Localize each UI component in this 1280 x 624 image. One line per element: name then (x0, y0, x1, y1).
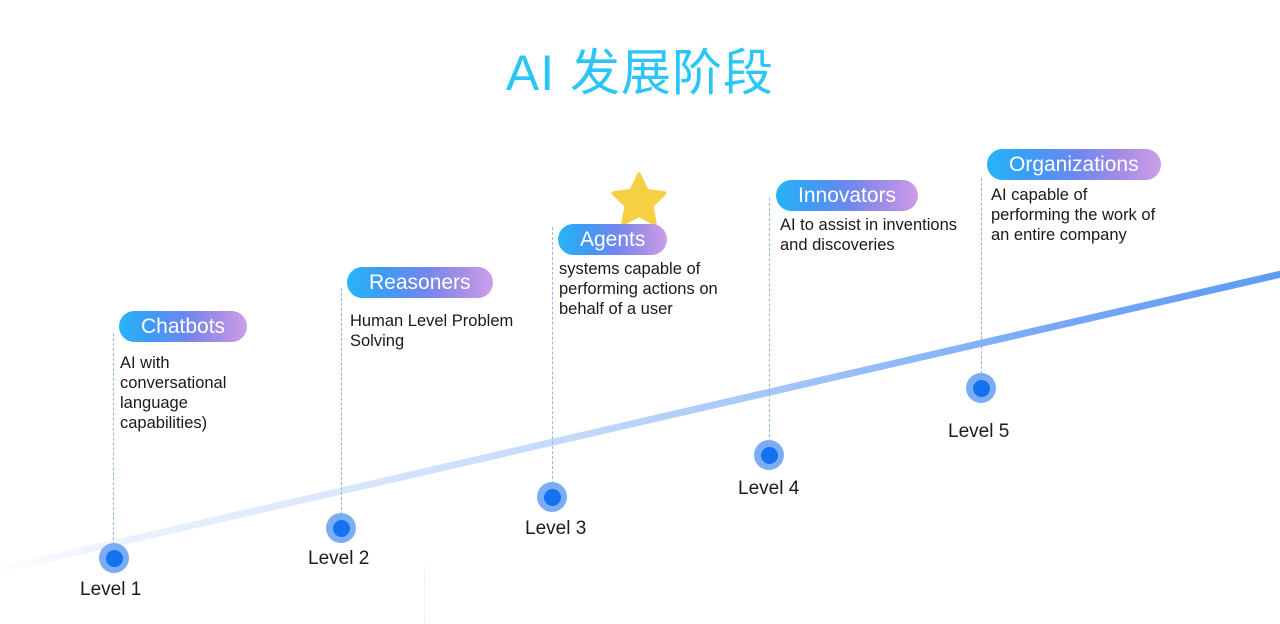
stage-level-label-3: Level 3 (525, 518, 586, 540)
connector-line-3 (552, 227, 553, 484)
stage-pill-label-5: Organizations (1009, 154, 1139, 175)
stage-pill-label-4: Innovators (798, 185, 896, 206)
connector-line-1 (113, 333, 114, 545)
stage-pill-2[interactable]: Reasoners (347, 267, 493, 298)
stage-pill-label-1: Chatbots (141, 316, 225, 337)
stage-node-2[interactable] (326, 513, 356, 543)
bottom-guide-line (424, 566, 425, 624)
stage-node-1[interactable] (99, 543, 129, 573)
stage-description-4: AI to assist in inventions and discoveri… (780, 215, 990, 255)
stage-pill-5[interactable]: Organizations (987, 149, 1161, 180)
connector-line-4 (769, 198, 770, 442)
connector-line-2 (341, 288, 342, 515)
stage-node-3[interactable] (537, 482, 567, 512)
stage-pill-3[interactable]: Agents (558, 224, 667, 255)
stage-description-5: AI capable of performing the work of an … (991, 185, 1191, 245)
infographic-canvas: AI 发展阶段 Chatbots AI with conversational … (0, 0, 1280, 624)
connector-line-5 (981, 178, 982, 374)
stage-level-label-1: Level 1 (80, 579, 141, 601)
stage-description-1: AI with conversational language capabili… (120, 353, 300, 433)
stage-pill-label-3: Agents (580, 229, 645, 250)
stage-pill-label-2: Reasoners (369, 272, 471, 293)
page-title: AI 发展阶段 (0, 42, 1280, 104)
stage-level-label-4: Level 4 (738, 478, 799, 500)
star-icon (610, 172, 668, 228)
stage-description-2: Human Level Problem Solving (350, 311, 550, 351)
stage-level-label-5: Level 5 (948, 421, 1009, 443)
stage-level-label-2: Level 2 (308, 548, 369, 570)
stage-node-4[interactable] (754, 440, 784, 470)
stage-description-3: systems capable of performing actions on… (559, 259, 759, 319)
stage-node-5[interactable] (966, 373, 996, 403)
stage-pill-4[interactable]: Innovators (776, 180, 918, 211)
stage-pill-1[interactable]: Chatbots (119, 311, 247, 342)
